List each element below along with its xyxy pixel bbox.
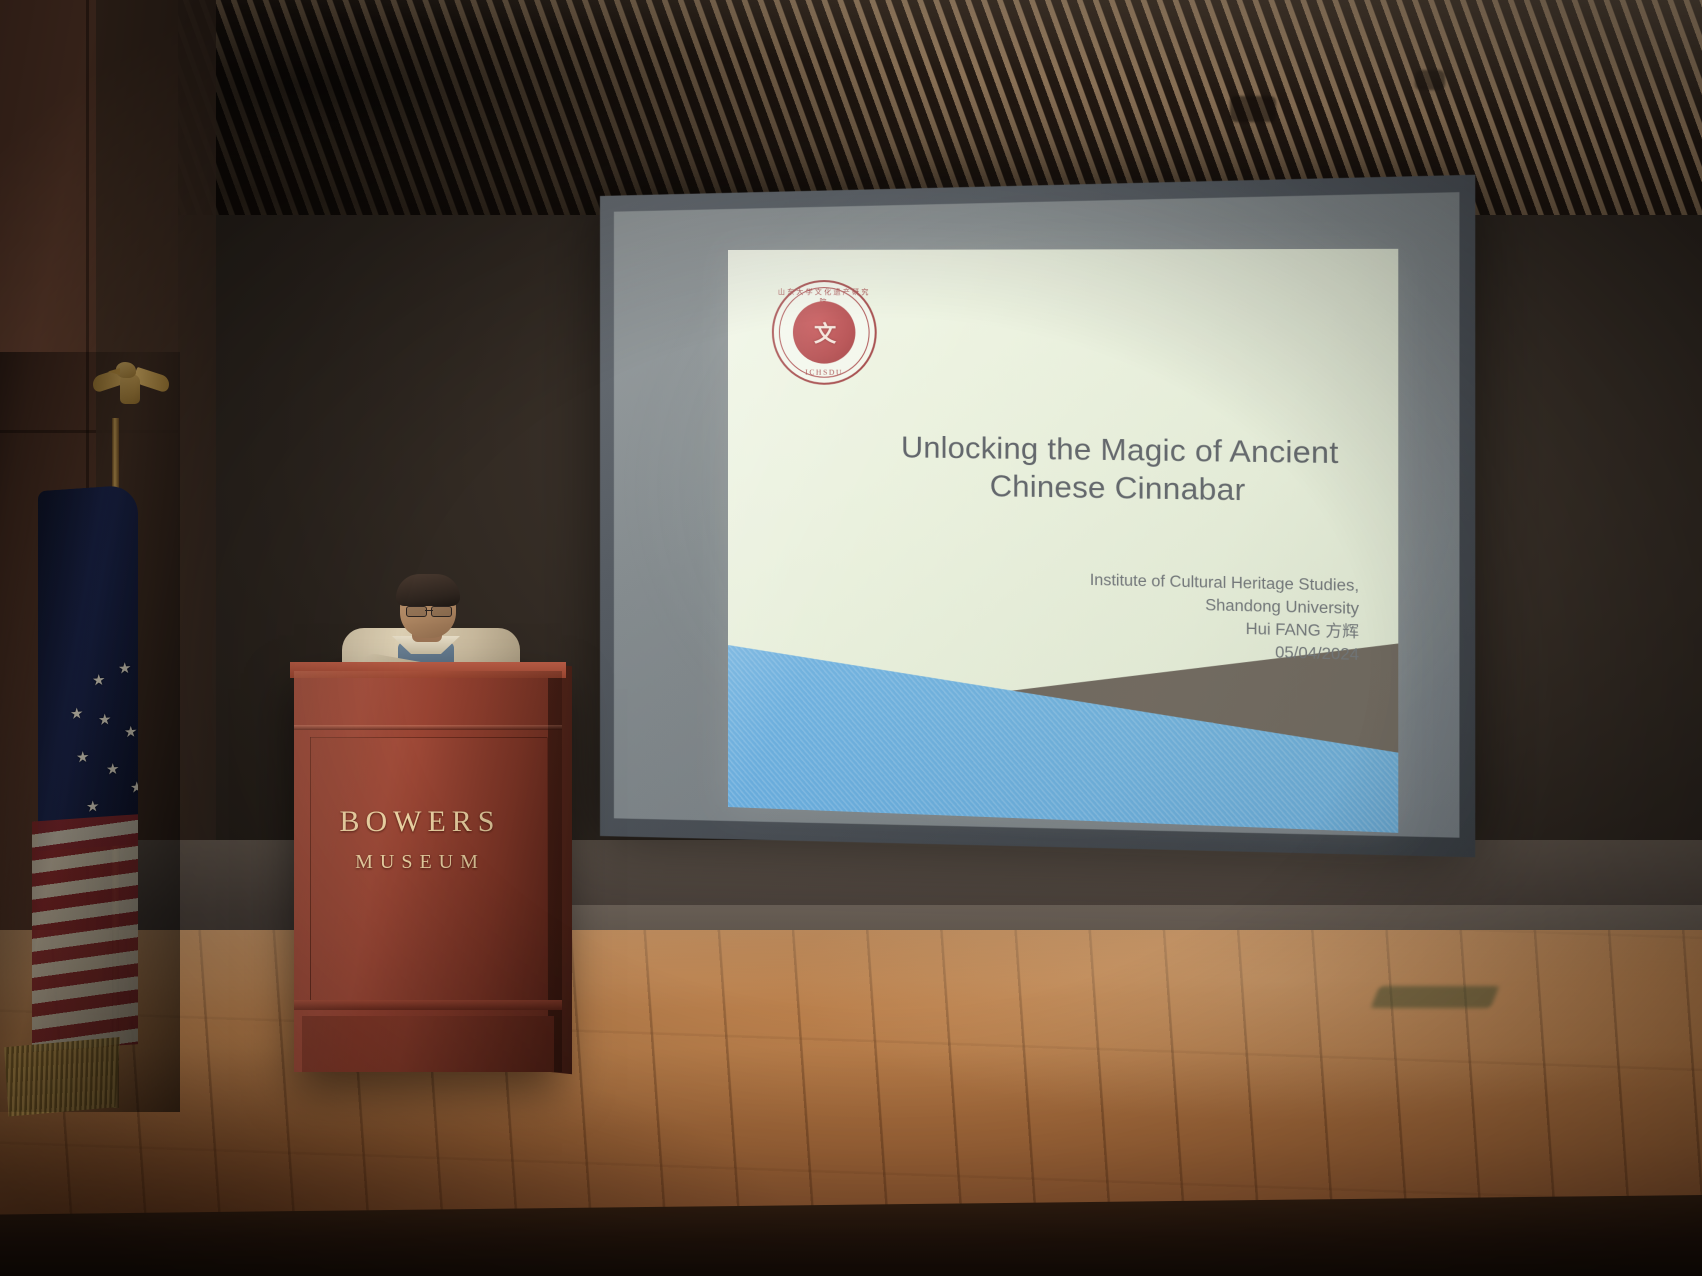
flag-star: ★	[76, 750, 89, 766]
stage-floor-marking	[1371, 986, 1500, 1008]
podium-shading	[294, 671, 562, 1072]
gold-eagle-finial-icon	[92, 358, 170, 420]
flag-star: ★	[130, 780, 138, 796]
flag-cloth: ★ ★ ★ ★ ★ ★ ★ ★ ★	[30, 484, 138, 1052]
flag-star: ★	[106, 762, 119, 778]
flag-star: ★	[118, 661, 131, 677]
slide-screen-sheen	[728, 249, 1398, 833]
flag-star: ★	[70, 706, 83, 722]
american-flag: ★ ★ ★ ★ ★ ★ ★ ★ ★	[0, 352, 180, 1112]
speaker-hair	[396, 574, 460, 606]
speaker-glasses	[406, 606, 452, 615]
flag-stripes	[32, 814, 138, 1052]
presentation-slide: 山东大学文化遗产研究院 文 ICHSDU Unlocking the Magic…	[728, 249, 1398, 833]
lectern-podium: BOWERS MUSEUM	[294, 671, 562, 1072]
flag-fringe	[4, 1037, 120, 1117]
glasses-right-lens	[431, 606, 452, 617]
flag-star: ★	[86, 799, 99, 815]
glasses-left-lens	[406, 606, 427, 617]
flag-star: ★	[98, 712, 111, 728]
eagle-body	[120, 374, 140, 404]
photo-scene: 山东大学文化遗产研究院 文 ICHSDU Unlocking the Magic…	[0, 0, 1702, 1276]
flag-star: ★	[124, 724, 137, 740]
flag-star: ★	[92, 672, 105, 688]
